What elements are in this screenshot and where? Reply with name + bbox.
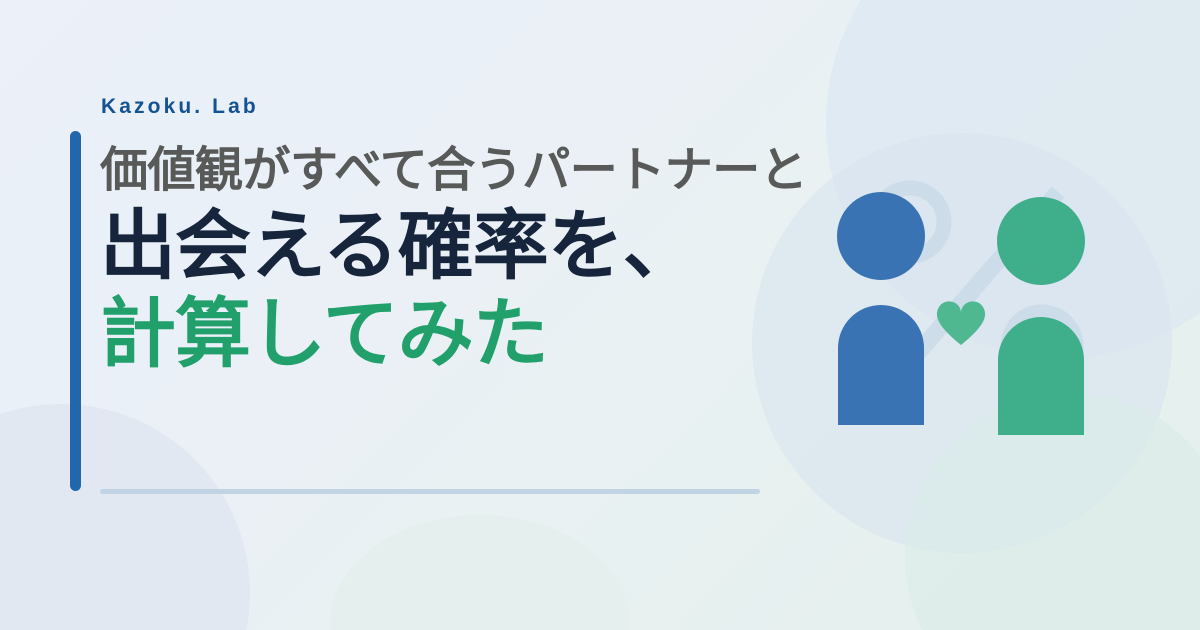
title-block: Kazoku. Lab 価値観がすべて合うパートナーと 出会える確率を、 計算し… <box>100 96 860 375</box>
background-blob-bottom-right <box>905 392 1200 630</box>
brand-label: Kazoku. Lab <box>101 96 860 117</box>
background-blob-top-right <box>826 0 1200 358</box>
background-blob-bottom-center <box>330 515 630 630</box>
percent-symbol-icon <box>862 170 1092 400</box>
heart-icon <box>937 301 985 345</box>
person-figure-green-icon <box>997 197 1085 435</box>
divider <box>100 489 760 494</box>
background-blob-bottom-left <box>0 404 250 630</box>
page-title: 価値観がすべて合うパートナーと 出会える確率を、 計算してみた <box>100 145 860 375</box>
og-card: Kazoku. Lab 価値観がすべて合うパートナーと 出会える確率を、 計算し… <box>0 0 1200 630</box>
accent-bar <box>70 131 81 491</box>
headline-line-2: 出会える確率を、 <box>100 206 860 287</box>
headline-line-1: 価値観がすべて合うパートナーと <box>100 145 860 196</box>
headline-line-3: 計算してみた <box>100 294 860 375</box>
